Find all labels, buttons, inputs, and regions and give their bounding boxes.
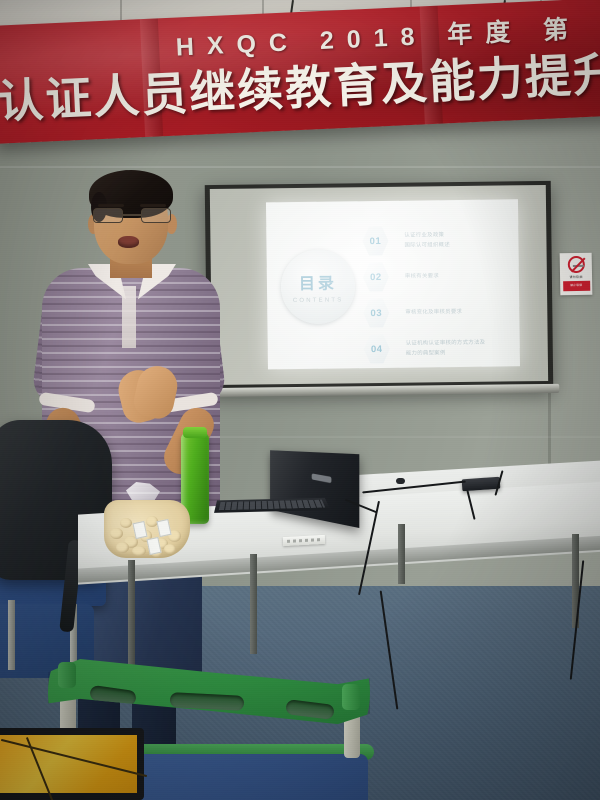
toc-item-text: 认证行业及政策 (404, 230, 450, 241)
snack-bag (104, 500, 190, 558)
projected-slide: 目录 CONTENTS 01 认证行业及政策 国际认可组织概述 (266, 199, 520, 369)
no-smoking-sign: 请勿吸烟 禁止吸烟 (560, 253, 593, 296)
no-smoking-icon (567, 256, 584, 273)
toc-item-text: 审核有关要求 (405, 271, 439, 282)
list-item: 02 审核有关要求 (363, 257, 513, 295)
hexagon-badge: 02 (363, 262, 389, 292)
list-item: 01 认证行业及政策 国际认可组织概述 (362, 221, 512, 259)
toc-item-number: 03 (370, 307, 382, 318)
toc-title-cn: 目录 (299, 270, 337, 294)
shirt-placket (122, 286, 136, 348)
chair-post-cap (342, 684, 360, 710)
hexagon-badge: 03 (363, 298, 389, 328)
snack-label (156, 519, 171, 537)
sign-banner-text: 禁止吸烟 (570, 284, 582, 288)
toc-item-number: 02 (370, 271, 382, 282)
chair-backrest (48, 656, 370, 730)
toc-list: 01 认证行业及政策 国际认可组织概述 02 审核有关要求 (362, 221, 514, 367)
toc-item-text2: 能力的典型案例 (406, 348, 486, 359)
chair-post-cap (58, 662, 76, 688)
yellow-panel (0, 728, 144, 800)
table-leg (398, 524, 405, 584)
hexagon-badge: 01 (362, 226, 388, 256)
toc-item-number: 01 (370, 235, 382, 246)
mouth (118, 236, 139, 248)
toc-item-text: 审核变化及审核员要求 (405, 307, 462, 318)
toc-badge: 目录 CONTENTS (281, 249, 356, 324)
list-item: 04 认证机构认证审核的方式方法及 能力的典型案例 (364, 329, 514, 367)
projection-screen: 目录 CONTENTS 01 认证行业及政策 国际认可组织概述 (205, 181, 554, 393)
toc-item-text2: 国际认可组织概述 (404, 240, 450, 251)
bottle-cap[interactable] (183, 427, 207, 438)
list-item: 03 审核变化及审核员要求 (363, 293, 513, 331)
hexagon-badge: 04 (364, 334, 390, 364)
laptop-logo (312, 473, 332, 483)
snack-label (132, 521, 147, 539)
toc-title-en: CONTENTS (293, 297, 344, 304)
small-object (396, 478, 405, 484)
conference-photo: HXQC 2018 年度 第 认证人员继续教育及能力提升 目录 CONTENTS… (0, 0, 600, 800)
toc-item-text: 认证机构认证审核的方式方法及 (406, 337, 486, 348)
sign-red-banner: 禁止吸烟 (563, 281, 590, 291)
glasses (93, 208, 171, 223)
clasped-hands (120, 366, 178, 428)
screen-surface: 目录 CONTENTS 01 认证行业及政策 国际认可组织概述 (210, 185, 548, 385)
sign-caption: 请勿吸烟 (569, 275, 582, 279)
toc-item-number: 04 (371, 343, 383, 354)
